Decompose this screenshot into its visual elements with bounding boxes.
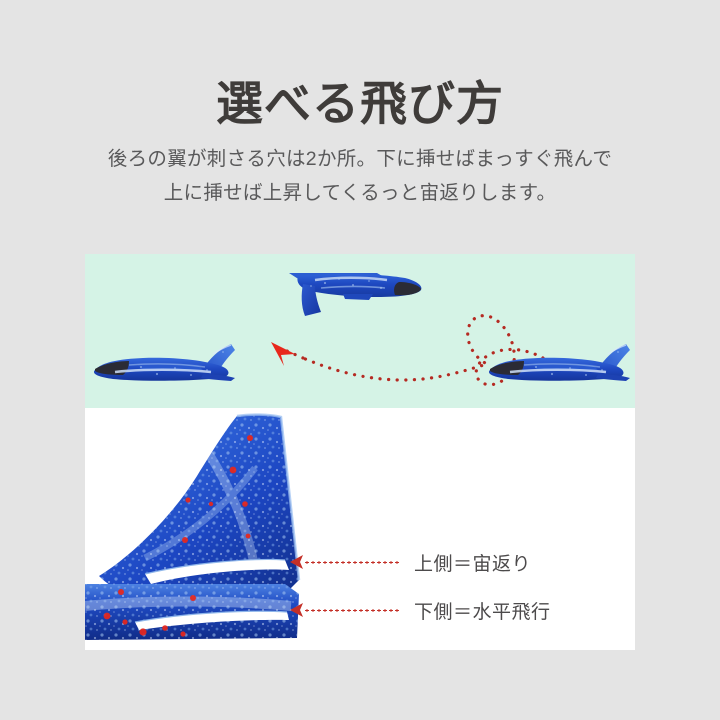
callout-upper-dotted-line <box>304 561 400 564</box>
callout-lower-dotted-line <box>304 609 400 612</box>
callout-upper: 上側＝宙返り <box>290 551 531 573</box>
callout-upper-label: 上側＝宙返り <box>414 549 531 576</box>
illustration-card: 上側＝宙返り 下側＝水平飛行 <box>85 254 635 650</box>
arrow-left-icon <box>290 603 303 617</box>
page-description: 後ろの翼が刺さる穴は2か所。下に挿せばまっすぐ飛んで 上に挿せば上昇してくるっと… <box>0 142 720 210</box>
plane-level-left <box>85 342 245 390</box>
callout-lower-label: 下側＝水平飛行 <box>414 597 551 624</box>
description-line-1: 後ろの翼が刺さる穴は2か所。下に挿せばまっすぐ飛んで <box>0 142 720 176</box>
callout-lower: 下側＝水平飛行 <box>290 599 551 621</box>
description-line-2: 上に挿せば上昇してくるっと宙返りします。 <box>0 176 720 210</box>
flight-path-panel <box>85 254 635 408</box>
plane-inverted-top <box>281 264 429 320</box>
page-title: 選べる飛び方 <box>0 78 720 130</box>
arrow-left-icon <box>290 555 303 569</box>
plane-level-right <box>480 342 635 390</box>
